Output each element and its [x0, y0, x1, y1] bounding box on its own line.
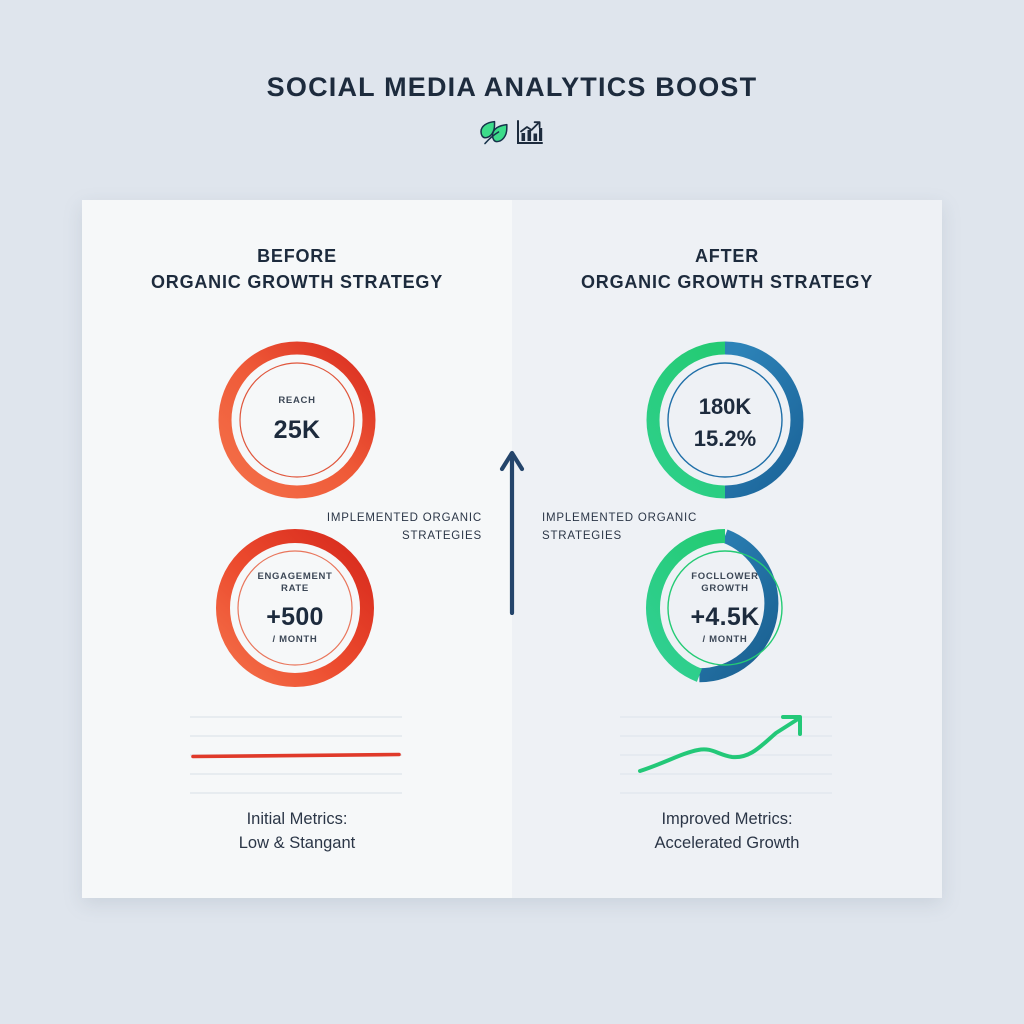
- donut-after-follower-sub: / MONTH: [702, 634, 747, 645]
- comparison-card: BEFORE ORGANIC GROWTH STRATEGY REACH 25K: [82, 200, 942, 898]
- leaf-icon: [480, 120, 510, 151]
- donut-before-engagement-label: ENGAGEMENT: [257, 571, 332, 583]
- donut-before-engagement-sub: / MONTH: [272, 634, 317, 645]
- donut-before-reach-value: 25K: [274, 416, 321, 445]
- donut-after-reach-content: 180K 15.2%: [645, 340, 805, 500]
- panel-after-title: AFTER: [512, 244, 942, 270]
- donut-before-engagement-content: ENGAGEMENT RATE +500 / MONTH: [215, 528, 375, 688]
- panel-before-caption-line2: Low & Stangant: [82, 832, 512, 856]
- donut-before-engagement-value: +500: [266, 603, 324, 632]
- transition-up-arrow-icon: [495, 445, 529, 615]
- panel-after-subtitle: ORGANIC GROWTH STRATEGY: [512, 270, 942, 296]
- donut-after-follower-content: FOCLLOWER GROWTH +4.5K / MONTH: [645, 528, 805, 688]
- arrow-caption-left-text: IMPLEMENTED ORGANIC STRATEGIES: [327, 512, 482, 542]
- donut-before-engagement-label-2: RATE: [281, 583, 309, 595]
- panel-after-caption: Improved Metrics: Accelerated Growth: [512, 808, 942, 856]
- bar-chart-growth-icon: [516, 119, 544, 151]
- donut-before-reach[interactable]: REACH 25K: [217, 340, 377, 500]
- panel-before-caption: Initial Metrics: Low & Stangant: [82, 808, 512, 856]
- page-header: SOCIAL MEDIA ANALYTICS BOOST: [0, 0, 1024, 151]
- mini-chart-after: [620, 705, 832, 805]
- panel-after-caption-line2: Accelerated Growth: [512, 832, 942, 856]
- arrow-caption-left: IMPLEMENTED ORGANIC STRATEGIES: [322, 510, 482, 546]
- donut-after-follower-label: FOCLLOWER: [691, 571, 759, 583]
- panel-after-heading: AFTER ORGANIC GROWTH STRATEGY: [512, 244, 942, 295]
- donut-after-reach-label: 180K: [699, 394, 752, 420]
- donut-before-engagement[interactable]: ENGAGEMENT RATE +500 / MONTH: [215, 528, 375, 688]
- donut-after-reach-value: 15.2%: [694, 426, 756, 452]
- donut-after-follower-label-2: GROWTH: [701, 583, 748, 595]
- panel-after-caption-line1: Improved Metrics:: [512, 808, 942, 832]
- donut-after-reach[interactable]: 180K 15.2%: [645, 340, 805, 500]
- panel-after: AFTER ORGANIC GROWTH STRATEGY: [512, 200, 942, 898]
- donut-after-follower[interactable]: FOCLLOWER GROWTH +4.5K / MONTH: [645, 528, 805, 688]
- header-icon-row: [0, 119, 1024, 151]
- donut-before-reach-label: REACH: [278, 395, 315, 407]
- arrow-caption-right-text: IMPLEMENTED ORGANIC STRATEGIES: [542, 512, 697, 542]
- arrow-caption-right: IMPLEMENTED ORGANIC STRATEGIES: [542, 510, 707, 546]
- panel-before: BEFORE ORGANIC GROWTH STRATEGY REACH 25K: [82, 200, 512, 898]
- mini-chart-before: [190, 705, 402, 805]
- panel-before-title: BEFORE: [82, 244, 512, 270]
- panel-before-caption-line1: Initial Metrics:: [82, 808, 512, 832]
- donut-after-follower-value: +4.5K: [691, 603, 760, 632]
- panel-before-heading: BEFORE ORGANIC GROWTH STRATEGY: [82, 244, 512, 295]
- panel-before-subtitle: ORGANIC GROWTH STRATEGY: [82, 270, 512, 296]
- page-title: SOCIAL MEDIA ANALYTICS BOOST: [0, 0, 1024, 103]
- donut-before-reach-content: REACH 25K: [217, 340, 377, 500]
